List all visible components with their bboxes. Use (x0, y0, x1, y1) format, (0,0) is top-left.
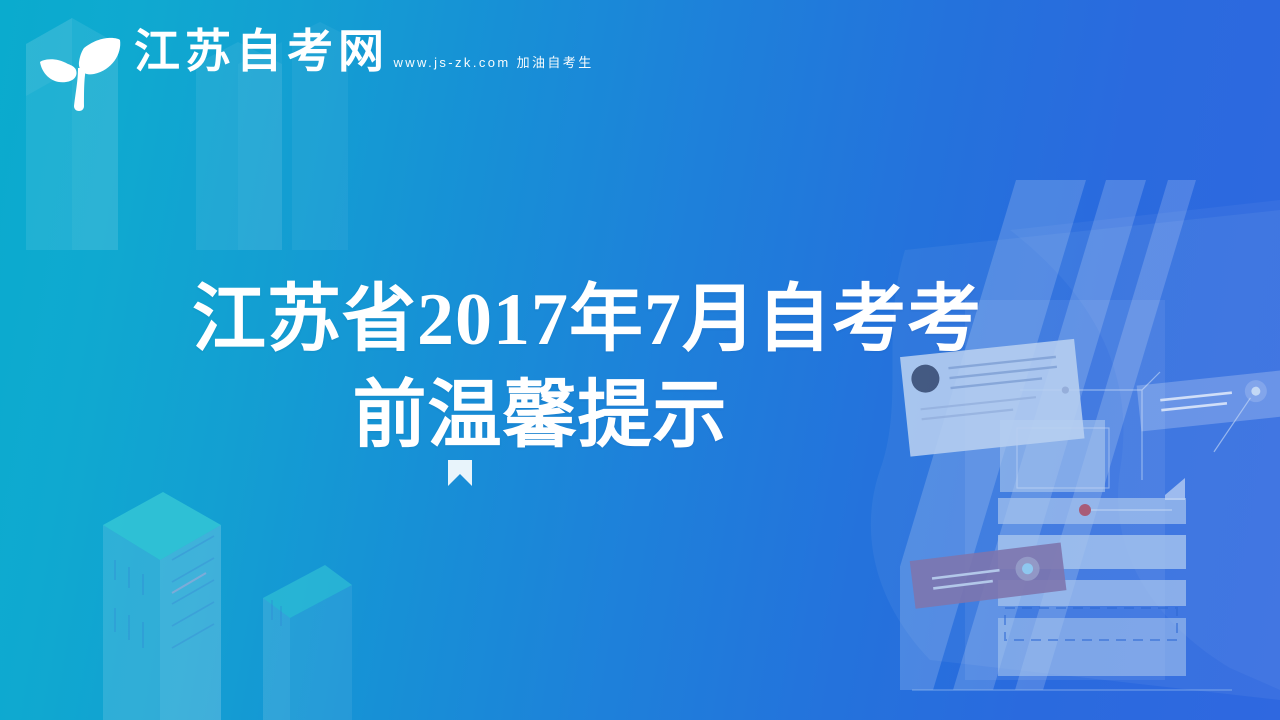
page-title: 江苏省2017年7月自考考 前温馨提示 (120, 272, 1080, 464)
site-logo-title: 江苏自考网 (134, 25, 389, 77)
page-title-line-2: 前温馨提示 (120, 368, 1080, 464)
page-title-line-1: 江苏省2017年7月自考考 (120, 272, 1080, 368)
sprout-leaf-icon (34, 24, 126, 116)
site-logo[interactable]: 江苏自考网 www.js-zk.com 加油自考生 (34, 22, 594, 116)
tall-building (103, 492, 221, 720)
promo-banner: 江苏自考网 www.js-zk.com 加油自考生 江苏省2017年7月自考考 … (0, 0, 1280, 720)
short-building (263, 565, 352, 720)
site-logo-subtitle: www.js-zk.com 加油自考生 (393, 55, 593, 70)
